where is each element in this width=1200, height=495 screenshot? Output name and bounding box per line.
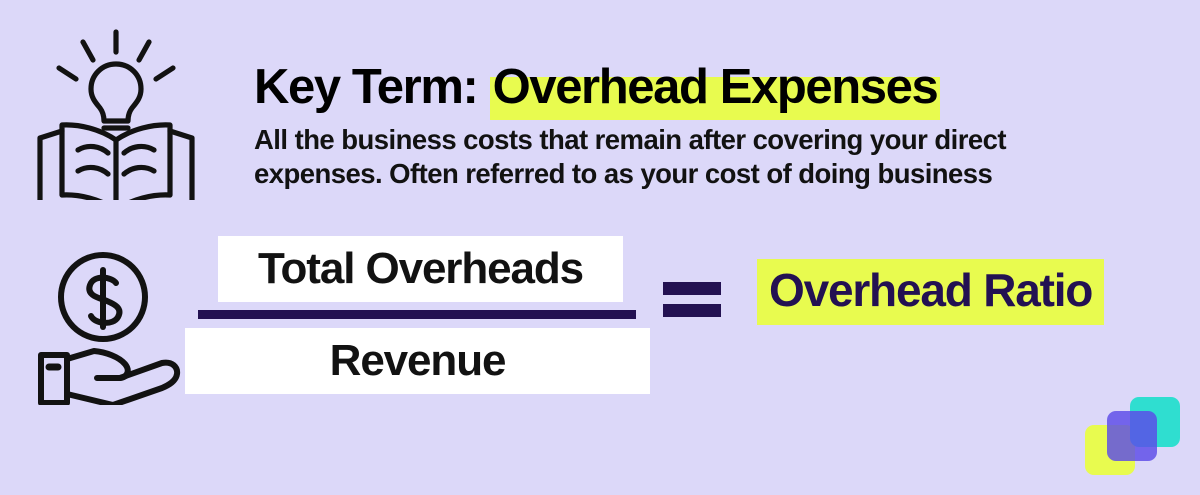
definition-text: All the business costs that remain after… [254, 123, 1099, 191]
denominator-label: Revenue [185, 328, 650, 394]
numerator-label: Total Overheads [218, 236, 623, 302]
hand-thumb [67, 351, 128, 378]
text-line-left-1 [78, 146, 108, 153]
ray-upper-left [83, 42, 93, 60]
header-block: Key Term: Overhead Expenses All the busi… [254, 60, 1124, 191]
text-line-right-2 [124, 167, 154, 174]
text-line-right-1 [124, 146, 154, 153]
book-page-left [62, 125, 116, 200]
book-lightbulb-icon [26, 28, 206, 200]
fraction-bar [198, 310, 636, 319]
logo-svg [1085, 392, 1180, 480]
title-prefix: Key Term: [254, 60, 490, 114]
result-highlight: Overhead Ratio [757, 259, 1104, 325]
hand-dollar-svg [36, 245, 181, 405]
ray-upper-right [139, 42, 149, 60]
hand-holding-dollar-icon [36, 245, 181, 405]
book-cover-left [40, 131, 116, 200]
ray-left [59, 68, 76, 79]
equals-icon [663, 282, 721, 317]
ray-right [156, 68, 173, 79]
three-squares-logo [1085, 392, 1180, 480]
equals-bar-bottom [663, 304, 721, 317]
logo-purple-square [1107, 411, 1157, 461]
book-page-right [116, 125, 170, 200]
result-label: Overhead Ratio [769, 266, 1092, 315]
page-title: Key Term: Overhead Expenses [254, 60, 1124, 114]
infographic-canvas: Key Term: Overhead Expenses All the busi… [0, 0, 1200, 495]
equals-bar-top [663, 282, 721, 295]
title-highlighted-term: Overhead Expenses [490, 60, 941, 114]
text-line-left-2 [78, 167, 108, 174]
sleeve-cuff [41, 355, 67, 403]
book-lightbulb-svg [26, 28, 206, 200]
bulb-glass [91, 64, 141, 121]
hand-palm [67, 363, 177, 405]
book-cover-right [116, 131, 192, 200]
